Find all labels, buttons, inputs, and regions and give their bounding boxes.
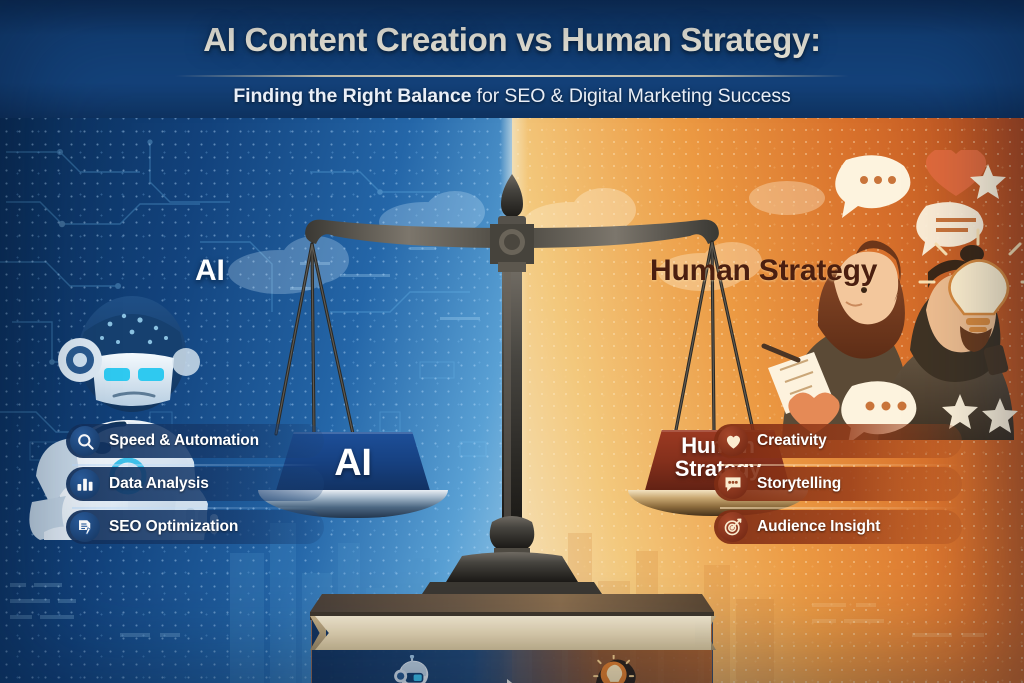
right-panel-heading: Human Strategy xyxy=(650,254,877,288)
formula-cell-ai: AI Tools for Efficiency xyxy=(322,652,502,683)
speech-bubble-icon xyxy=(718,469,748,499)
right-panel-human: Human Strategy xyxy=(512,112,1024,683)
target-icon xyxy=(718,512,748,542)
formula-cell-human: Human Insight for Strategy xyxy=(522,652,702,683)
robot-illustration xyxy=(10,280,240,540)
header-divider xyxy=(175,75,849,77)
pill-separator xyxy=(720,464,960,466)
feature-label: SEO Optimization xyxy=(109,518,238,536)
feature-pill-data-analysis[interactable]: Data Analysis xyxy=(66,467,324,501)
page-subtitle: Finding the Right Balance for SEO & Digi… xyxy=(0,85,1024,108)
feature-pill-audience-insight[interactable]: Audience Insight xyxy=(714,510,962,544)
page-subtitle-rest: for SEO & Digital Marketing Success xyxy=(471,85,790,107)
feature-pill-storytelling[interactable]: Storytelling xyxy=(714,467,962,501)
page-title: AI Content Creation vs Human Strategy: xyxy=(0,21,1024,59)
people-illustration xyxy=(760,150,1024,440)
left-panel-heading: AI xyxy=(195,254,225,288)
cloud-shapes-left xyxy=(210,152,512,352)
feature-pill-speed-automation[interactable]: Speed & Automation xyxy=(66,424,324,458)
feature-pill-creativity[interactable]: Creativity xyxy=(714,424,962,458)
feature-label: Creativity xyxy=(757,432,827,450)
feature-label: Data Analysis xyxy=(109,475,209,493)
heart-icon xyxy=(718,426,748,456)
pill-separator xyxy=(720,507,960,509)
panel-seam-divider xyxy=(500,112,528,683)
left-panel-ai: AI xyxy=(0,112,512,683)
feature-label: Audience Insight xyxy=(757,518,880,536)
feature-label: Storytelling xyxy=(757,475,841,493)
human-head-lightbulb-icon xyxy=(522,652,702,683)
page-subtitle-strong: Finding the Right Balance xyxy=(233,85,471,107)
bar-chart-icon xyxy=(70,469,100,499)
search-icon xyxy=(70,426,100,456)
pill-separator xyxy=(72,507,320,509)
document-pencil-icon xyxy=(70,512,100,542)
main-stage: AI xyxy=(0,112,1024,683)
header-bar: AI Content Creation vs Human Strategy: F… xyxy=(0,0,1024,118)
robot-head-icon xyxy=(322,652,502,683)
ribbon-body xyxy=(315,616,711,650)
infographic-poster: AI xyxy=(0,0,1024,683)
pill-separator xyxy=(72,464,320,466)
arrow-right-icon xyxy=(494,678,520,683)
feature-label: Speed & Automation xyxy=(109,432,259,450)
ribbon-banner: THE WINNING FORMULA xyxy=(315,616,711,650)
feature-pill-seo-optimization[interactable]: SEO Optimization xyxy=(66,510,324,544)
